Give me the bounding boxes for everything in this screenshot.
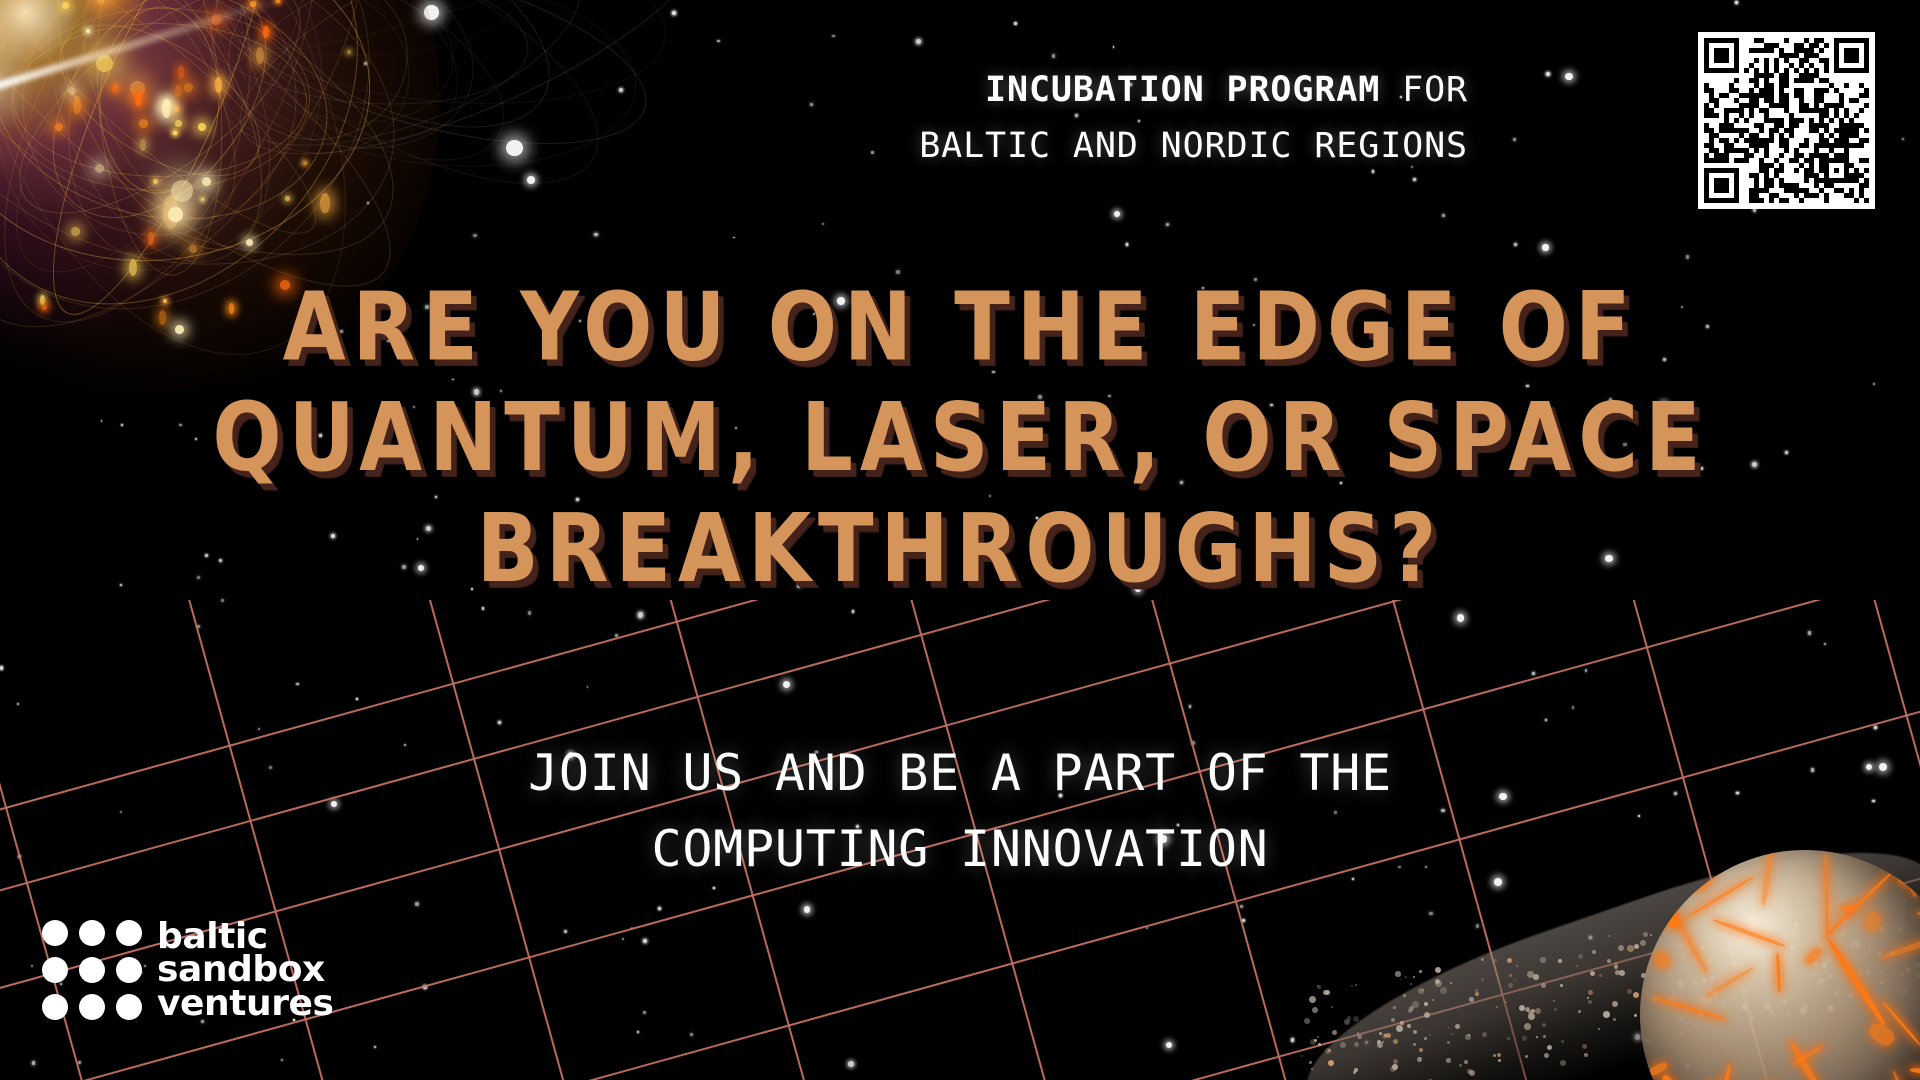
star	[1442, 214, 1446, 218]
ring-debris-speck	[1634, 944, 1639, 949]
ring-debris-speck	[1698, 957, 1699, 958]
ring-debris-speck	[1898, 928, 1901, 931]
ring-debris-speck	[1780, 969, 1783, 972]
ring-debris-speck	[1790, 945, 1795, 950]
star	[1546, 72, 1550, 76]
ring-debris-speck	[1435, 980, 1442, 987]
ring-debris-speck	[1377, 1040, 1381, 1044]
star	[424, 5, 439, 20]
star	[1542, 244, 1548, 250]
ring-debris-speck	[1386, 1033, 1391, 1038]
ring-debris-speck	[1412, 1001, 1419, 1008]
star	[1513, 138, 1516, 141]
qr-code[interactable]	[1698, 32, 1875, 209]
ring-debris-speck	[1318, 1043, 1321, 1046]
logo-dot	[79, 994, 105, 1020]
ring-debris-speck	[1413, 1030, 1417, 1034]
star	[498, 721, 501, 724]
ring-debris-speck	[1309, 1061, 1312, 1064]
sphere-wisp	[191, 0, 682, 85]
ring-debris-speck	[1482, 1032, 1487, 1037]
headline-line-3: BREAKTHROUGHS?	[29, 494, 1891, 605]
star	[197, 625, 201, 629]
ring-debris-speck	[1379, 1032, 1382, 1035]
ring-debris-speck	[1435, 967, 1441, 973]
lava-crack	[1669, 907, 1709, 974]
ring-debris-speck	[1650, 934, 1652, 936]
star	[564, 930, 567, 933]
ring-debris-speck	[1810, 971, 1815, 976]
ring-debris-speck	[1677, 981, 1684, 988]
star	[1902, 138, 1905, 141]
ring-debris-speck	[1858, 973, 1860, 975]
ring-debris-speck	[1304, 1018, 1310, 1024]
ring-debris-speck	[1390, 1066, 1396, 1072]
sphere-particle-node	[112, 86, 119, 93]
sphere-orbit-line	[9, 5, 312, 195]
ring-debris-speck	[1651, 997, 1656, 1002]
ring-debris-speck	[1878, 952, 1882, 956]
ring-debris-speck	[1344, 1019, 1350, 1025]
ring-debris-speck	[1821, 962, 1827, 968]
ring-debris-speck	[1886, 989, 1887, 990]
ring-debris-speck	[1535, 1008, 1541, 1014]
ring-debris-speck	[1714, 990, 1718, 994]
sphere-orbit-line	[0, 0, 432, 314]
ring-debris-speck	[1710, 977, 1714, 981]
ring-debris-speck	[1835, 991, 1839, 995]
ring-debris-speck	[1543, 1035, 1546, 1038]
ring-debris-speck	[1424, 1037, 1427, 1040]
logo-dot	[116, 920, 142, 946]
logo-nine-dot-grid-icon	[42, 920, 142, 1020]
star	[717, 40, 720, 43]
sphere-particle-node	[215, 77, 222, 93]
ring-debris-speck	[1542, 1023, 1546, 1027]
ring-debris-speck	[1561, 1040, 1564, 1043]
sphere-orbit-line	[0, 0, 335, 254]
ring-debris-speck	[1424, 1012, 1430, 1018]
star	[1365, 1041, 1368, 1044]
ring-debris-speck	[1578, 954, 1583, 959]
star	[0, 666, 3, 669]
ring-debris-speck	[1615, 970, 1620, 975]
sphere-flare-glow	[0, 0, 100, 200]
ring-debris-speck	[1706, 958, 1712, 964]
star	[1242, 919, 1245, 922]
ring-debris-speck	[1393, 1006, 1396, 1009]
star	[32, 1061, 36, 1065]
ring-debris-speck	[1646, 1039, 1650, 1043]
ring-debris-speck	[1409, 1006, 1414, 1011]
ring-debris-speck	[1678, 944, 1681, 947]
sphere-particle-node	[148, 232, 154, 245]
ring-debris-speck	[1392, 1064, 1398, 1070]
ring-debris-speck	[1913, 962, 1918, 967]
star	[1700, 994, 1711, 1005]
ring-debris-speck	[1821, 979, 1824, 982]
ring-debris-speck	[1424, 1002, 1428, 1006]
ring-debris-speck	[1641, 973, 1646, 978]
ring-debris-speck	[1467, 1069, 1472, 1074]
ring-debris-speck	[1590, 971, 1595, 976]
lava-crack	[1910, 1067, 1920, 1075]
sphere-wisp	[191, 0, 476, 152]
sphere-particle-node	[175, 120, 182, 127]
ring-debris-speck	[1856, 930, 1858, 932]
ring-debris-speck	[1309, 996, 1316, 1003]
sphere-orbit-line	[0, 0, 440, 319]
ring-debris-speck	[1310, 1039, 1316, 1045]
headline-line-2: QUANTUM, LASER, OR SPACE	[29, 383, 1891, 494]
ring-debris-speck	[1769, 1010, 1774, 1015]
ring-debris-speck	[1328, 1049, 1331, 1052]
logo-dot	[116, 957, 142, 983]
ring-debris-speck	[1750, 1015, 1754, 1019]
ring-debris-speck	[1818, 979, 1823, 984]
ring-debris-speck	[1654, 997, 1658, 1001]
ring-debris-speck	[1447, 1041, 1450, 1044]
logo[interactable]: baltic sandbox ventures	[42, 920, 334, 1020]
ring-debris-speck	[1382, 1041, 1384, 1043]
ring-debris-speck	[1357, 1032, 1359, 1034]
star	[690, 1033, 693, 1036]
lava-crack	[1862, 910, 1883, 933]
sphere-particle-node	[130, 81, 145, 96]
logo-dot	[79, 920, 105, 946]
sphere-particle-node	[139, 119, 148, 128]
ring-debris-speck	[1331, 1006, 1333, 1008]
ring-debris-speck	[1525, 1055, 1528, 1058]
sphere-wisp	[210, 0, 534, 200]
ring-debris-speck	[1779, 980, 1781, 982]
star	[78, 1061, 81, 1064]
star	[643, 1011, 646, 1014]
ring-debris-speck	[1826, 957, 1832, 963]
ring-debris-speck	[1536, 1036, 1538, 1038]
star	[733, 237, 735, 239]
star	[1240, 905, 1244, 909]
sphere-particle-node	[96, 0, 106, 4]
sphere-particle-node	[135, 91, 142, 106]
ring-debris-speck	[1455, 1024, 1460, 1029]
sphere-particle-node	[256, 47, 264, 64]
ring-debris-speck	[1328, 1060, 1334, 1066]
ring-debris-speck	[1459, 1064, 1462, 1067]
star	[1291, 1038, 1294, 1041]
ring-debris-speck	[1509, 974, 1512, 977]
ring-debris-speck	[1855, 942, 1861, 948]
ring-debris-speck	[1619, 970, 1625, 976]
star	[1114, 211, 1120, 217]
ring-debris-speck	[1413, 1043, 1416, 1046]
star	[1744, 991, 1746, 993]
sphere-orbit-line	[6, 0, 313, 294]
ring-debris-speck	[1528, 1010, 1533, 1015]
star	[1014, 22, 1017, 25]
sphere-orbit-line	[16, 0, 304, 281]
sphere-particle-node	[113, 84, 118, 89]
ring-debris-speck	[1588, 1000, 1592, 1004]
ring-debris-speck	[1468, 1034, 1470, 1036]
ring-debris-speck	[1578, 1010, 1581, 1013]
header-line-1-regular: FOR	[1402, 70, 1468, 110]
star	[1166, 223, 1170, 227]
lava-crack	[1841, 905, 1854, 913]
ring-debris-speck	[1405, 976, 1407, 978]
lava-crack	[1704, 967, 1754, 998]
ring-debris-speck	[1508, 983, 1513, 988]
ring-debris-speck	[1408, 1009, 1412, 1013]
lava-crack	[1804, 947, 1823, 966]
sphere-particle-node	[73, 96, 81, 114]
ring-debris-speck	[1814, 962, 1818, 966]
star	[1532, 672, 1535, 675]
ring-debris-speck	[1709, 989, 1715, 995]
ring-debris-speck	[1317, 985, 1319, 987]
star	[1514, 243, 1517, 246]
ring-debris-speck	[1507, 1037, 1510, 1040]
sphere-orbit-line	[85, 0, 235, 280]
lava-crack	[1660, 1073, 1680, 1080]
sphere-particle-node	[168, 207, 183, 222]
ring-debris-speck	[1603, 1011, 1610, 1018]
ring-debris-speck	[1599, 974, 1602, 977]
ring-debris-speck	[1790, 928, 1797, 935]
ring-debris-speck	[1725, 948, 1728, 951]
ring-debris-speck	[1481, 958, 1484, 961]
ring-debris-speck	[1325, 990, 1330, 995]
ring-debris-speck	[1384, 1034, 1387, 1037]
ring-debris-speck	[1709, 981, 1712, 984]
star	[810, 103, 814, 107]
star	[1884, 902, 1887, 905]
logo-word-sandbox: sandbox	[157, 953, 334, 986]
ring-debris-speck	[1533, 974, 1539, 980]
ring-debris-speck	[1608, 935, 1610, 937]
ring-debris-speck	[1450, 982, 1452, 984]
ring-debris-speck	[1742, 1021, 1744, 1023]
ring-debris-speck	[1766, 965, 1770, 969]
ring-debris-speck	[1777, 957, 1780, 960]
ring-debris-speck	[1353, 1071, 1356, 1074]
ring-debris-speck	[1528, 1013, 1535, 1020]
ring-debris-speck	[1846, 889, 1851, 894]
sphere-wisp	[193, 0, 675, 125]
sphere-orbit-line	[96, 5, 222, 196]
star	[506, 140, 522, 156]
subheadline-line-1: JOIN US AND BE A PART OF THE	[0, 735, 1920, 811]
ring-debris-speck	[1892, 951, 1895, 954]
ring-debris-speck	[1859, 972, 1863, 976]
ring-debris-speck	[1560, 984, 1563, 987]
ring-debris-speck	[1544, 1053, 1549, 1058]
star	[783, 681, 790, 688]
ring-debris-speck	[1695, 915, 1697, 917]
ring-debris-speck	[1817, 980, 1823, 986]
ring-debris-speck	[1698, 1010, 1704, 1016]
star	[832, 35, 835, 38]
ring-debris-speck	[1876, 994, 1879, 997]
sphere-particle-node	[95, 164, 104, 173]
sphere-particle-node	[263, 26, 269, 38]
sphere-wisp	[216, 0, 420, 153]
star	[1189, 705, 1192, 708]
sphere-wisp	[187, 0, 496, 178]
ring-debris-speck	[1514, 979, 1516, 981]
ring-debris-speck	[1614, 965, 1618, 969]
ring-debris-speck	[1505, 1001, 1507, 1003]
ring-debris-speck	[1829, 974, 1833, 978]
sphere-wisp	[206, 0, 521, 61]
ring-debris-speck	[1469, 1070, 1475, 1076]
ring-debris-speck	[1880, 981, 1883, 984]
star	[1686, 255, 1690, 259]
ring-debris-speck	[1558, 959, 1562, 963]
ring-debris-speck	[1332, 1030, 1337, 1035]
star	[1874, 726, 1877, 729]
logo-dot	[116, 994, 142, 1020]
lava-crack	[1658, 907, 1682, 931]
ring-debris-speck	[1677, 948, 1679, 950]
star	[1545, 719, 1548, 722]
ring-debris-speck	[1496, 1006, 1498, 1008]
lava-crack	[1647, 1061, 1668, 1078]
star	[804, 906, 811, 913]
poster-canvas: INCUBATION PROGRAM FOR BALTIC AND NORDIC…	[0, 0, 1920, 1080]
ring-debris-speck	[1448, 1027, 1449, 1028]
star	[594, 233, 598, 237]
ring-debris-speck	[1418, 988, 1424, 994]
sphere-particle-node	[55, 123, 63, 131]
ring-debris-speck	[1417, 1057, 1422, 1062]
ring-debris-speck	[1541, 983, 1546, 988]
ring-debris-speck	[1667, 986, 1669, 988]
sphere-orbit-line	[0, 0, 348, 287]
ring-debris-speck	[1679, 1017, 1683, 1021]
ring-debris-speck	[1634, 1014, 1637, 1017]
headline-line-1: ARE YOU ON THE EDGE OF	[29, 272, 1891, 383]
ring-debris-speck	[1850, 902, 1854, 906]
star	[356, 698, 358, 700]
sphere-particle-node	[276, 0, 280, 3]
star	[258, 728, 260, 730]
ring-debris-speck	[1354, 1042, 1359, 1047]
ring-debris-speck	[1765, 909, 1770, 914]
ring-debris-speck	[1440, 987, 1447, 994]
ring-debris-speck	[1422, 989, 1424, 991]
ring-debris-speck	[1738, 964, 1745, 971]
ring-debris-speck	[1618, 945, 1624, 951]
ring-debris-speck	[1865, 954, 1867, 956]
star	[1635, 1034, 1641, 1040]
ring-debris-speck	[1525, 1007, 1530, 1012]
star	[1146, 927, 1148, 929]
star	[658, 907, 661, 910]
ring-debris-speck	[1340, 1042, 1346, 1048]
lava-crack	[1652, 996, 1727, 1021]
logo-word-ventures: ventures	[157, 987, 334, 1020]
ring-debris-speck	[1640, 940, 1646, 946]
ring-debris-speck	[1377, 1042, 1383, 1048]
ring-debris-speck	[1827, 947, 1829, 949]
sphere-orbit-line	[52, 0, 268, 242]
sphere-particle-node	[201, 198, 204, 201]
star	[1783, 1000, 1787, 1004]
ring-debris-speck	[1718, 948, 1724, 954]
ring-debris-speck	[1419, 1048, 1423, 1052]
ring-debris-speck	[1493, 1054, 1496, 1057]
ring-debris-speck	[1901, 973, 1904, 976]
star	[1824, 643, 1826, 645]
ring-debris-speck	[1747, 937, 1748, 938]
sphere-particle-node	[68, 87, 76, 95]
ring-debris-speck	[1775, 974, 1782, 981]
star	[637, 1031, 639, 1033]
ring-debris-speck	[1740, 935, 1746, 941]
star	[1663, 1028, 1666, 1031]
star	[638, 612, 643, 617]
logo-dot	[42, 920, 68, 946]
ring-debris-speck	[1613, 1018, 1616, 1021]
star	[528, 611, 532, 615]
lava-crack	[1826, 938, 1886, 1026]
logo-dot	[79, 957, 105, 983]
sphere-particle-node	[246, 239, 253, 246]
logo-wordmark: baltic sandbox ventures	[157, 920, 334, 1019]
ring-debris-speck	[1553, 1000, 1555, 1002]
ring-debris-speck	[1889, 951, 1894, 956]
star	[1668, 995, 1678, 1005]
ring-debris-speck	[1584, 1053, 1588, 1057]
ring-debris-speck	[1531, 1009, 1535, 1013]
header-line-1-bold: INCUBATION PROGRAM	[985, 70, 1380, 110]
ring-debris-speck	[1673, 982, 1675, 984]
ring-debris-speck	[1764, 1003, 1771, 1010]
ring-debris-speck	[1475, 992, 1479, 996]
star	[415, 902, 419, 906]
ring-debris-speck	[1317, 1036, 1319, 1038]
lava-crack	[1881, 920, 1920, 961]
subheadline-line-2: COMPUTING INNOVATION	[0, 811, 1920, 887]
ring-debris-speck	[1419, 970, 1422, 973]
ring-debris-speck	[1888, 912, 1890, 914]
sphere-particle-node	[178, 66, 184, 79]
ring-debris-speck	[1840, 927, 1845, 932]
ring-debris-speck	[1435, 979, 1440, 984]
ring-debris-speck	[1395, 971, 1401, 977]
ring-debris-speck	[1699, 945, 1705, 951]
ring-debris-speck	[1641, 1036, 1647, 1042]
sphere-particle-node	[189, 245, 197, 253]
ring-debris-speck	[1357, 1034, 1362, 1039]
ring-debris-speck	[1740, 936, 1746, 942]
ring-debris-speck	[1516, 965, 1518, 967]
sphere-particle-node	[162, 99, 171, 118]
sphere-orbit-line	[0, 0, 348, 247]
ring-debris-speck	[1786, 1012, 1790, 1016]
ring-debris-speck	[1354, 1068, 1358, 1072]
sphere-particle-node	[184, 83, 193, 92]
sphere-particle-node	[250, 1, 256, 7]
sphere-orbit-line	[0, 0, 354, 316]
ring-debris-speck	[1827, 1005, 1834, 1012]
ring-debris-speck	[1481, 978, 1484, 981]
ring-debris-speck	[1312, 1007, 1318, 1013]
star	[367, 202, 369, 204]
header-text: INCUBATION PROGRAM FOR BALTIC AND NORDIC…	[919, 62, 1468, 174]
sphere-particle-node	[198, 123, 206, 131]
